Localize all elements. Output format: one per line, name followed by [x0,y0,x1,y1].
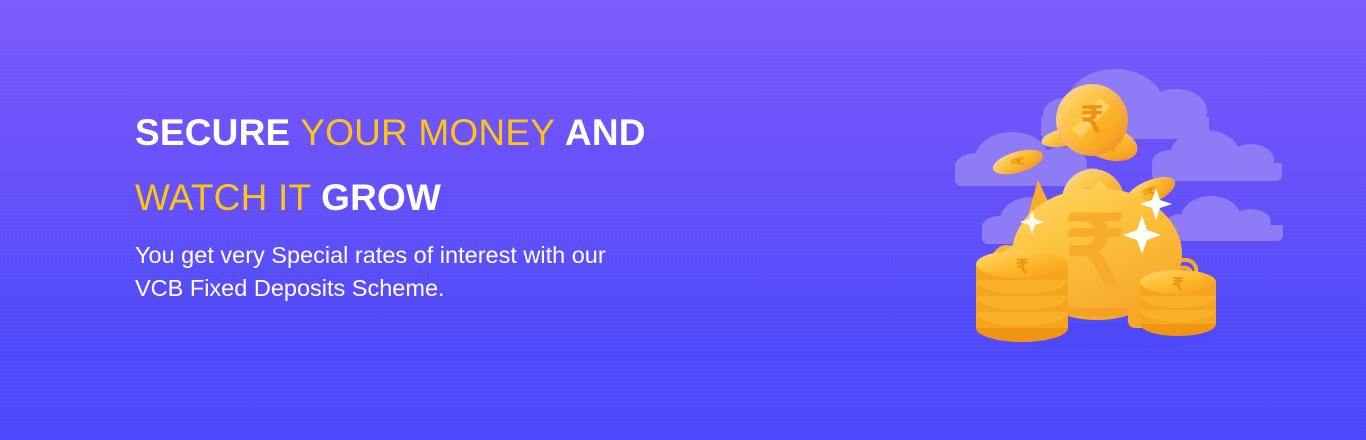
subtitle-line-2: VCB Fixed Deposits Scheme. [135,272,855,305]
piggy-bank-illustration: ₹ ₹ ₹ ₹ [960,40,1250,370]
promo-banner: SECURE YOUR MONEY AND WATCH IT GROW You … [0,0,1366,440]
svg-text:₹: ₹ [1081,99,1104,140]
coin-stack-left: ₹ [976,250,1068,342]
coin-stack-right: ₹ [1140,270,1216,336]
banner-copy: SECURE YOUR MONEY AND WATCH IT GROW You … [135,100,855,305]
falling-coin-icon: ₹ [1056,84,1128,156]
headline-word-your-money: YOUR MONEY [300,112,554,153]
headline-word-grow: GROW [321,177,441,218]
svg-text:₹: ₹ [1173,275,1184,294]
headline-line-1: SECURE YOUR MONEY AND [135,100,855,165]
headline-word-watch-it: WATCH IT [135,177,311,218]
headline-line-2: WATCH IT GROW [135,165,855,230]
headline-word-secure: SECURE [135,112,290,153]
subtitle-line-1: You get very Special rates of interest w… [135,239,855,272]
pig-belly-slot [1064,308,1128,316]
falling-coin-icon: ₹ [990,145,1046,179]
svg-text:₹: ₹ [1016,257,1028,278]
headline-word-and: AND [565,112,646,153]
pig-rupee-symbol: ₹ [1064,198,1125,305]
banner-subtitle: You get very Special rates of interest w… [135,239,855,305]
